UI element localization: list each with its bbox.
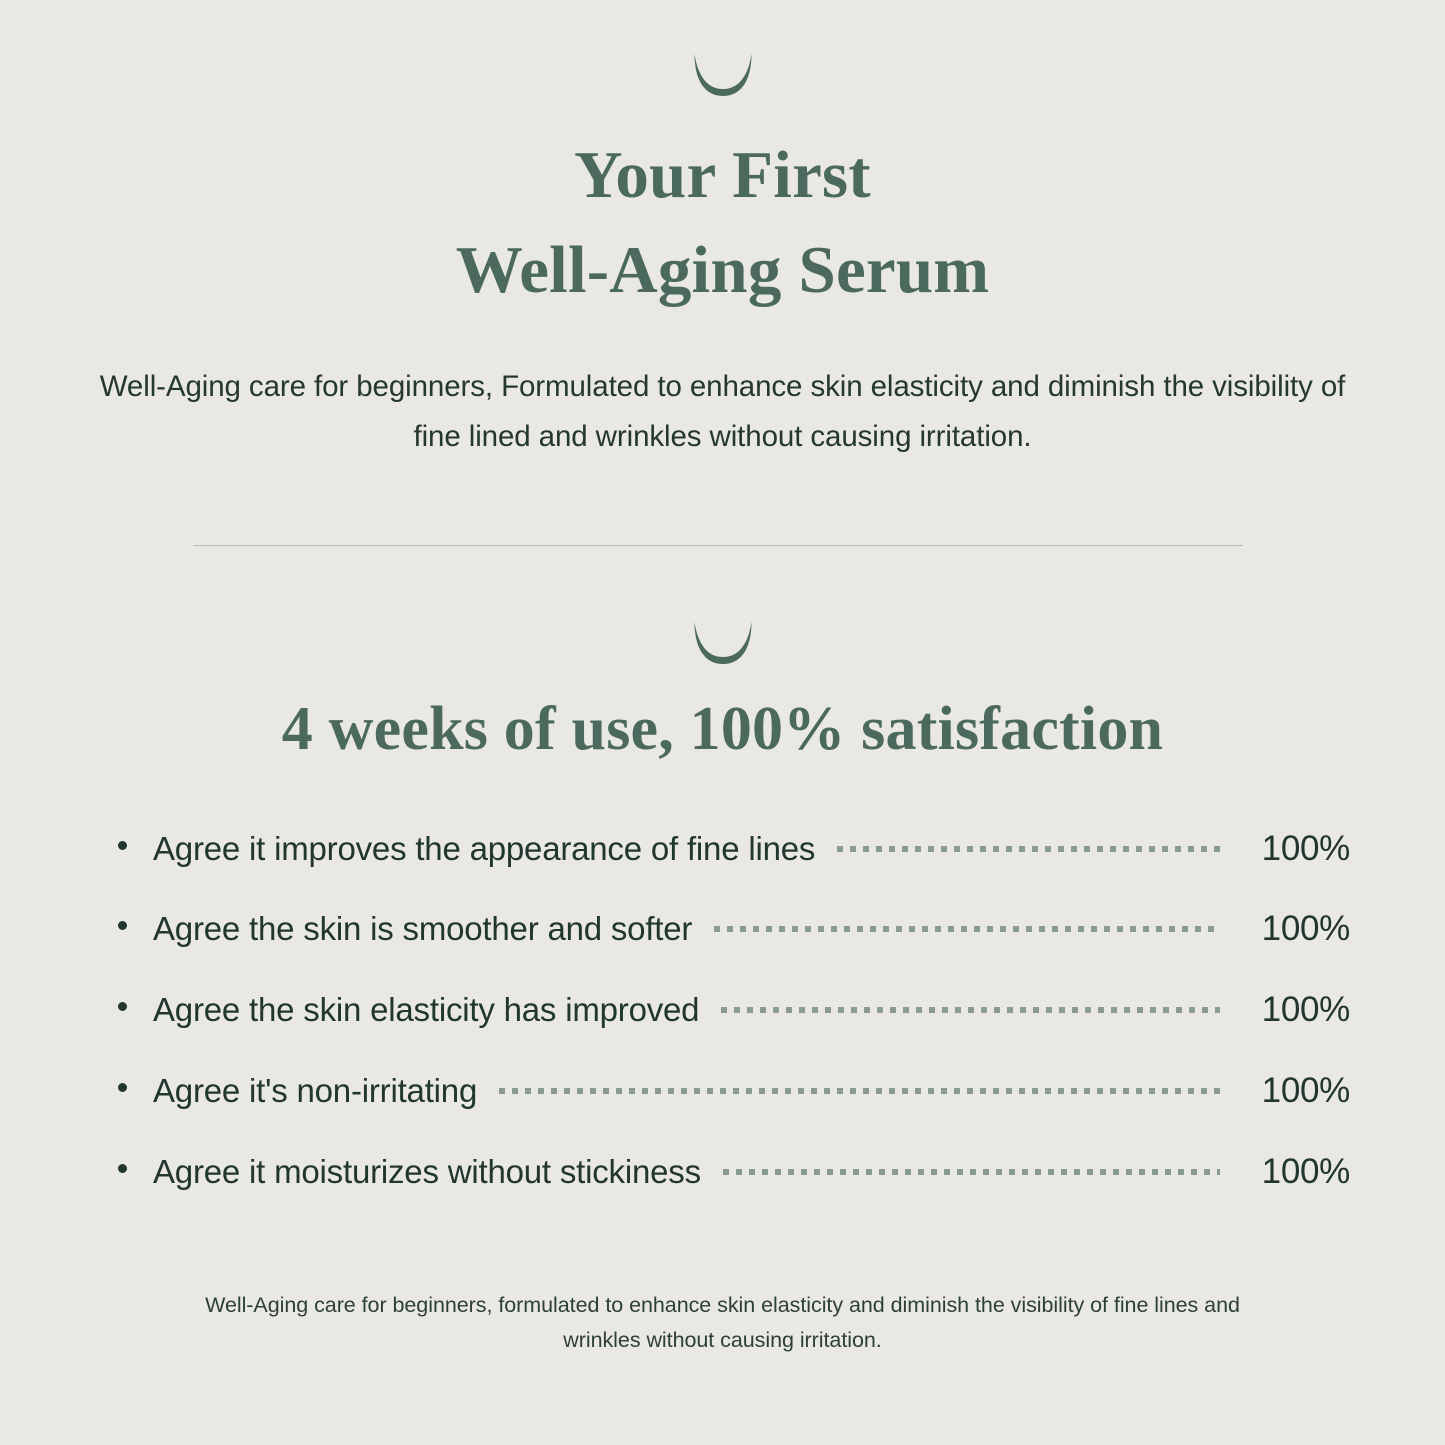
hero-title-line-2: Well-Aging Serum bbox=[0, 223, 1445, 318]
bullet-icon bbox=[118, 1164, 127, 1173]
stat-label: Agree it's non-irritating bbox=[153, 1070, 477, 1111]
crescent-moon-icon bbox=[690, 52, 756, 100]
satisfaction-list: Agree it improves the appearance of fine… bbox=[0, 827, 1445, 1194]
list-item: Agree it's non-irritating 100% bbox=[118, 1069, 1350, 1113]
list-item: Agree it moisturizes without stickiness … bbox=[118, 1150, 1350, 1194]
crescent-moon-icon bbox=[690, 620, 756, 668]
dot-leader bbox=[714, 926, 1220, 932]
dot-leader bbox=[499, 1088, 1220, 1094]
stat-label: Agree the skin is smoother and softer bbox=[153, 908, 692, 949]
page-title: Your First Well-Aging Serum bbox=[0, 128, 1445, 318]
promo-page: Your First Well-Aging Serum Well-Aging c… bbox=[0, 0, 1445, 1445]
stat-label: Agree it improves the appearance of fine… bbox=[153, 828, 815, 869]
stat-label: Agree the skin elasticity has improved bbox=[153, 989, 699, 1030]
bullet-icon bbox=[118, 921, 127, 930]
bullet-icon bbox=[118, 841, 127, 850]
hero-title-line-1: Your First bbox=[0, 128, 1445, 223]
hero-subtitle-line-1: Well-Aging care for beginners, Formulate… bbox=[43, 362, 1403, 412]
stat-value: 100% bbox=[1242, 1069, 1350, 1113]
hero-section: Your First Well-Aging Serum Well-Aging c… bbox=[0, 0, 1445, 461]
dot-leader bbox=[723, 1169, 1220, 1175]
stat-value: 100% bbox=[1242, 1150, 1350, 1194]
stat-value: 100% bbox=[1242, 988, 1350, 1032]
footnote-line-2: wrinkles without causing irritation. bbox=[143, 1323, 1303, 1358]
list-item: Agree the skin elasticity has improved 1… bbox=[118, 988, 1350, 1032]
dot-leader bbox=[721, 1007, 1220, 1013]
footnote-line-1: Well-Aging care for beginners, formulate… bbox=[143, 1288, 1303, 1323]
hero-subtitle: Well-Aging care for beginners, Formulate… bbox=[43, 362, 1403, 461]
satisfaction-title: 4 weeks of use, 100% satisfaction bbox=[0, 692, 1445, 766]
bullet-icon bbox=[118, 1083, 127, 1092]
footnote: Well-Aging care for beginners, formulate… bbox=[143, 1288, 1303, 1358]
satisfaction-section: 4 weeks of use, 100% satisfaction Agree … bbox=[0, 546, 1445, 1193]
bullet-icon bbox=[118, 1002, 127, 1011]
list-item: Agree it improves the appearance of fine… bbox=[118, 827, 1350, 871]
stat-value: 100% bbox=[1242, 827, 1350, 871]
dot-leader bbox=[837, 846, 1220, 852]
hero-subtitle-line-2: fine lined and wrinkles without causing … bbox=[43, 412, 1403, 462]
list-item: Agree the skin is smoother and softer 10… bbox=[118, 907, 1350, 951]
stat-label: Agree it moisturizes without stickiness bbox=[153, 1151, 701, 1192]
stat-value: 100% bbox=[1242, 907, 1350, 951]
